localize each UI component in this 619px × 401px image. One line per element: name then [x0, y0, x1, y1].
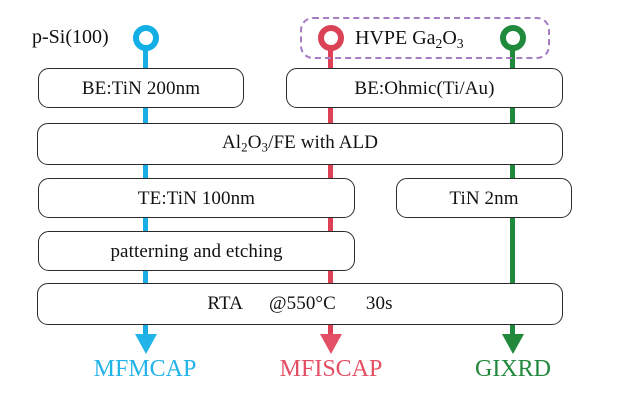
step-label-be-tin: BE:TiN 200nm [82, 79, 200, 98]
step-box-tin-2nm[interactable]: TiN 2nm [396, 178, 572, 218]
step-box-be-ohmic[interactable]: BE:Ohmic(Ti/Au) [286, 68, 563, 108]
step-box-al2o3-fe-ald[interactable]: Al2O3/FE with ALD [37, 123, 563, 165]
step-label-rta: RTA @550°C 30s [207, 293, 392, 315]
step-label-al2o3-fe-ald: Al2O3/FE with ALD [222, 133, 378, 155]
step-box-patterning[interactable]: patterning and etching [38, 231, 355, 271]
output-label-gixrd: GIXRD [428, 357, 598, 381]
o-subscript: 3 [457, 36, 464, 51]
output-label-mfmcap: MFMCAP [60, 357, 230, 381]
step-label-patterning: patterning and etching [110, 242, 282, 261]
mfmcap-text: MFMCAP [94, 356, 197, 382]
output-label-mfiscap: MFISCAP [246, 357, 416, 381]
o-text: O [442, 27, 456, 49]
arrow-head-blue [131, 326, 161, 356]
source-node-ga2o3-red[interactable] [318, 25, 344, 51]
gixrd-text: GIXRD [475, 356, 551, 382]
arrow-head-red [316, 326, 346, 356]
step-box-te-tin[interactable]: TE:TiN 100nm [38, 178, 355, 218]
process-flow-diagram: p-Si(100) HVPE Ga2O3 BE:TiN 200nm BE:Ohm… [0, 0, 619, 401]
o-text-2: O [248, 132, 262, 153]
hvpe-text: HVPE Ga [355, 27, 436, 49]
mfiscap-text: MFISCAP [280, 356, 383, 382]
step-label-be-ohmic: BE:Ohmic(Ti/Au) [354, 79, 494, 98]
rta-duration-text: 30s [366, 293, 393, 315]
ring-icon-blue [133, 25, 159, 51]
step-label-te-tin: TE:TiN 100nm [138, 189, 255, 208]
rta-name-text: RTA [207, 293, 243, 315]
step-box-rta[interactable]: RTA @550°C 30s [37, 283, 563, 325]
source-label-hvpe-ga2o3: HVPE Ga2O3 [355, 28, 464, 50]
fe-ald-text: /FE with ALD [268, 132, 378, 153]
ring-icon-red [318, 25, 344, 51]
p-si-text: p-Si(100) [32, 26, 109, 48]
step-box-be-tin[interactable]: BE:TiN 200nm [38, 68, 244, 108]
step-label-tin-2nm: TiN 2nm [449, 189, 518, 208]
source-node-p-si[interactable] [133, 25, 159, 51]
source-node-ga2o3-green[interactable] [500, 25, 526, 51]
al-text: Al [222, 132, 241, 153]
ring-icon-green [500, 25, 526, 51]
source-label-p-si: p-Si(100) [32, 27, 109, 47]
rta-temperature-text: @550°C [269, 293, 336, 315]
arrow-head-green [498, 326, 528, 356]
